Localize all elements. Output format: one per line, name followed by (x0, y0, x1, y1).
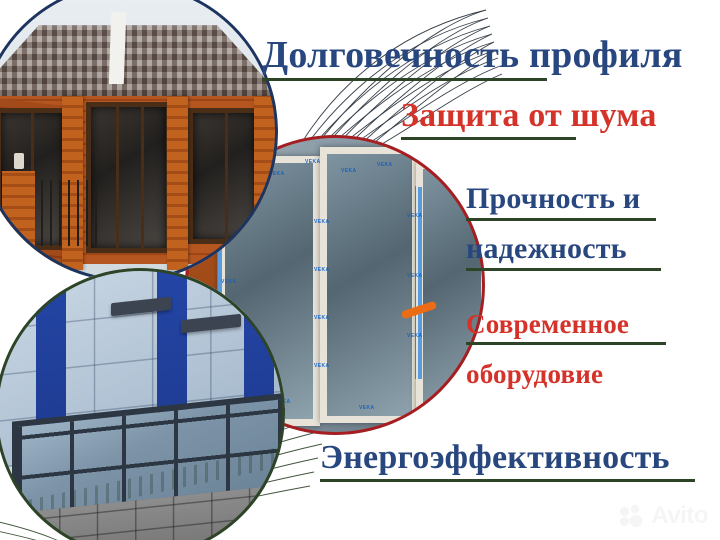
headline-underline (466, 218, 656, 221)
headline-energy-efficiency: Энергоэффективность (320, 441, 695, 482)
headline-noise-protection: Защита от шума (401, 99, 657, 140)
veka-film-label: VEKA (377, 162, 393, 168)
veka-film-label: VEKA (314, 219, 330, 225)
veka-film-label: VEKA (314, 267, 330, 273)
headline-durability-text: Долговечность профиля (262, 36, 683, 74)
headline-energy-efficiency-text: Энергоэффективность (320, 441, 695, 475)
headline-strength-text: Прочность и (466, 184, 656, 214)
veka-film-label: VEKA (341, 168, 357, 174)
veka-film-label: VEKA (305, 159, 321, 165)
headline-durability: Долговечность профиля (262, 36, 683, 81)
headline-underline (320, 479, 695, 482)
headline-underline (262, 78, 547, 81)
headline-noise-protection-text: Защита от шума (401, 99, 657, 133)
veka-film-label: VEKA (314, 315, 330, 321)
headline-underline (466, 342, 666, 345)
veka-film-label: VEKA (407, 273, 423, 279)
headline-equipment-text: оборудовие (466, 361, 603, 388)
headline-modern-equipment-line1: Современное (466, 311, 666, 345)
headline-underline (401, 137, 576, 140)
headline-modern-text: Современное (466, 311, 666, 338)
poster-canvas: VEKA VEKA VEKA VEKA VEKA VEKA VEKA VEKA … (0, 0, 720, 540)
veka-film-label: VEKA (359, 405, 375, 411)
veka-film-label: VEKA (407, 333, 423, 339)
avito-wordmark: Avito (651, 504, 708, 528)
avito-logo-icon (620, 505, 646, 527)
headline-underline (466, 268, 661, 271)
avito-watermark: Avito (620, 504, 708, 528)
photo-commercial-building (0, 268, 285, 540)
headline-reliability-text: надежность (466, 234, 661, 264)
photo-wooden-house (0, 0, 278, 282)
veka-film-label: VEKA (314, 363, 330, 369)
headline-reliability: надежность (466, 234, 661, 271)
veka-film-label: VEKA (407, 213, 423, 219)
headline-strength: Прочность и (466, 184, 656, 221)
headline-modern-equipment-line2: оборудовие (466, 361, 603, 392)
